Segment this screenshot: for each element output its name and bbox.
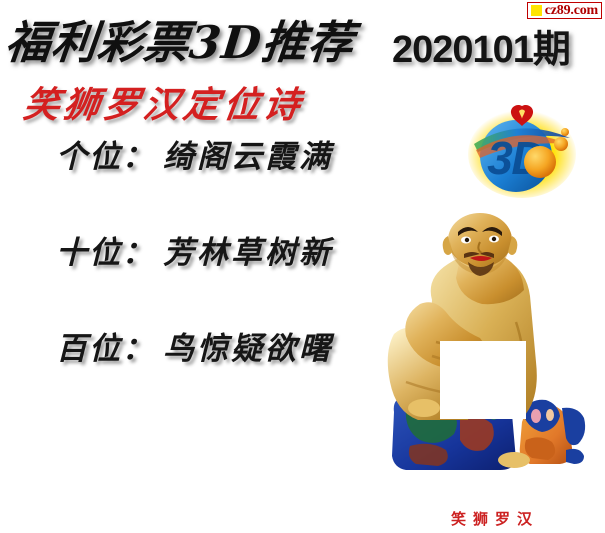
- site-watermark: cz89.com: [527, 2, 602, 19]
- poem-position-value: 鸟惊疑欲曙: [163, 330, 333, 368]
- poem-line-tens: 十位： 芳林草树新: [0, 234, 400, 330]
- svg-text:3: 3: [487, 132, 513, 184]
- watermark-square-icon: [531, 5, 542, 16]
- sub-title: 笑狮罗汉定位诗: [20, 76, 307, 128]
- watermark-text: cz89.com: [545, 4, 598, 18]
- issue-number: 2020101期: [392, 18, 570, 73]
- statue-caption: 笑狮罗汉: [410, 508, 580, 529]
- poem-line-units: 个位： 绮阁云霞满: [0, 138, 400, 234]
- page-title: 福利彩票3D推荐: [3, 6, 358, 71]
- poem-position-label: 十位：: [56, 234, 155, 272]
- blank-white-patch: [440, 341, 526, 419]
- poem-position-label: 个位：: [56, 138, 155, 176]
- poem-block: 个位： 绮阁云霞满 十位： 芳林草树新 百位： 鸟惊疑欲曙: [0, 138, 400, 426]
- poem-line-hundreds: 百位： 鸟惊疑欲曙: [0, 330, 400, 426]
- lottery-recommendation-poster: cz89.com 福利彩票3D推荐 2020101期 笑狮罗汉定位诗 个位： 绮…: [0, 0, 605, 533]
- poem-position-value: 芳林草树新: [163, 234, 333, 272]
- welfare-lottery-3d-logo-icon: 3 D: [466, 100, 578, 200]
- poem-position-value: 绮阁云霞满: [163, 138, 333, 176]
- poem-position-label: 百位：: [56, 330, 155, 368]
